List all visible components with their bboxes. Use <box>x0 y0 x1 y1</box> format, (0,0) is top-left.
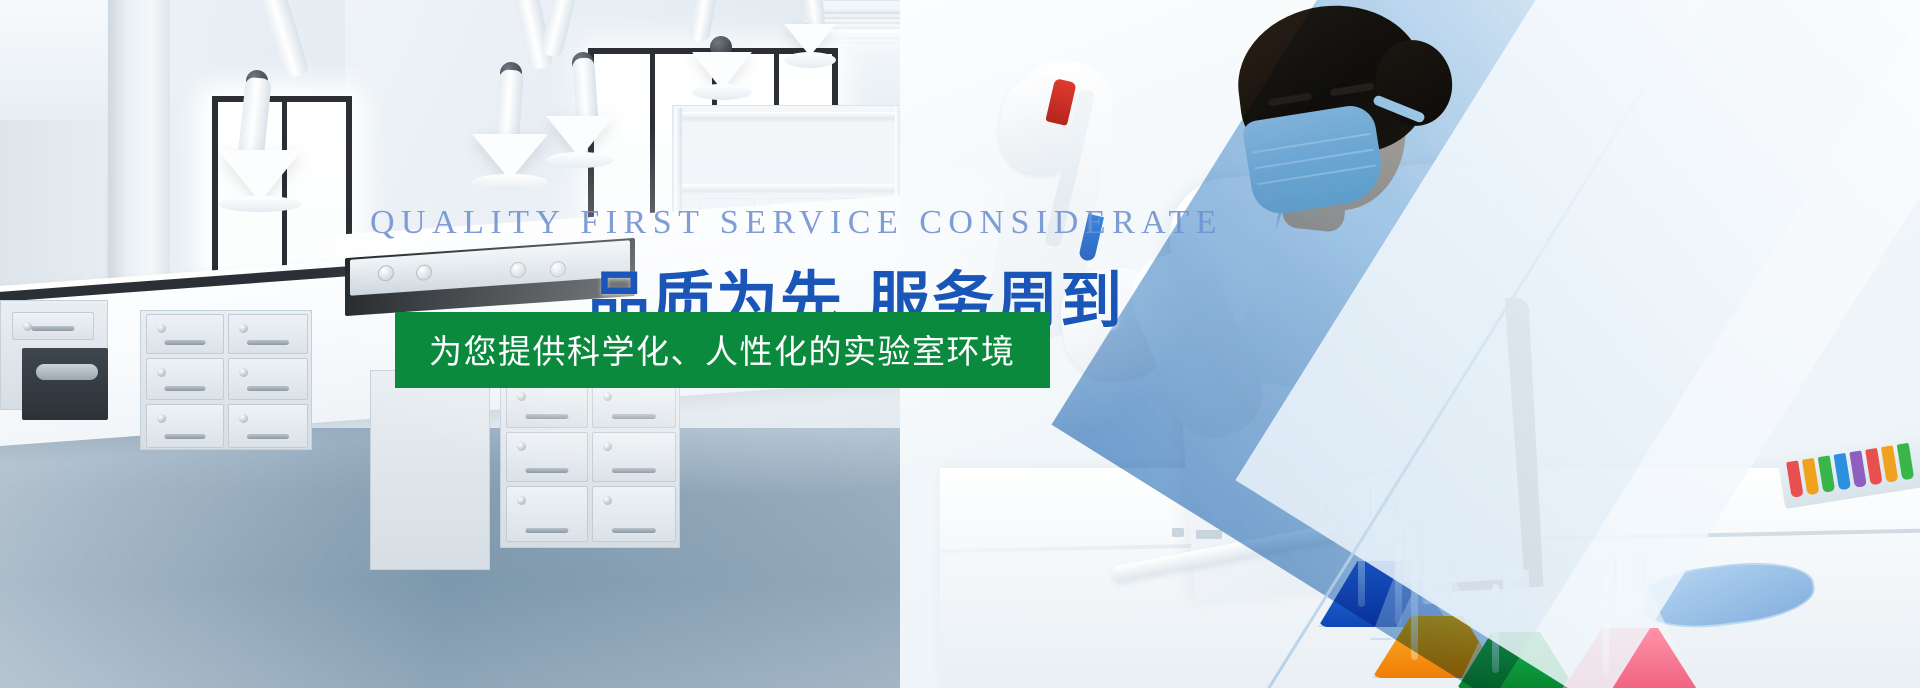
cabinet-drawer <box>228 358 308 400</box>
service-knob <box>378 265 394 282</box>
drawer-handle <box>247 340 289 345</box>
rod-marking <box>1172 528 1184 537</box>
rod-marking <box>1196 530 1222 539</box>
test-tube <box>1818 455 1835 492</box>
cabinet-drawer <box>592 486 676 542</box>
lab-background-photo <box>0 0 1920 688</box>
test-tube <box>1786 460 1803 497</box>
cabinet-drawer <box>146 314 224 354</box>
drawer-handle <box>612 468 656 473</box>
drawer-handle <box>31 326 74 331</box>
test-tube <box>1802 458 1819 495</box>
pendant-lamp-rim <box>218 196 302 212</box>
drawer-lock <box>239 368 248 377</box>
drawer-lock <box>157 324 166 333</box>
drawer-handle <box>164 386 205 391</box>
cabinet-drawer <box>228 404 308 448</box>
cabinet-drawer <box>506 432 588 482</box>
undercounter-handle <box>36 364 98 380</box>
pendant-lamp-rim <box>546 152 614 168</box>
cabinet-drawer <box>506 382 588 428</box>
cabinet-drawer <box>12 312 94 340</box>
cabinet-drawer <box>506 486 588 542</box>
drawer-handle <box>525 414 568 419</box>
drawer-handle <box>247 434 289 439</box>
drawer-lock <box>517 442 526 451</box>
drawer-lock <box>517 496 526 505</box>
fume-arm-segment <box>572 57 599 124</box>
drawer-handle <box>247 386 289 391</box>
test-tube <box>1897 443 1914 480</box>
service-knob <box>416 264 432 281</box>
pendant-lamp <box>218 150 302 202</box>
hero-banner: QUALITY FIRST SERVICE CONSIDERATE 品质为先服务… <box>0 0 1920 688</box>
service-knob <box>550 261 566 278</box>
drawer-handle <box>612 414 656 419</box>
pendant-lamp-rim <box>472 174 548 190</box>
drawer-handle <box>164 340 205 345</box>
pendant-lamp-rim <box>692 84 752 100</box>
test-tube <box>1834 453 1851 490</box>
drawer-lock <box>603 392 612 401</box>
drawer-lock <box>603 496 612 505</box>
drawer-lock <box>239 414 248 423</box>
test-tube <box>1865 448 1882 485</box>
cabinet-drawer <box>592 382 676 428</box>
test-tube <box>1849 450 1866 487</box>
drawer-lock <box>239 324 248 333</box>
window-mullion <box>650 54 655 218</box>
drawer-lock <box>517 392 526 401</box>
pendant-lamp-rim <box>784 52 836 68</box>
undercounter-unit <box>22 348 108 420</box>
drawer-lock <box>157 414 166 423</box>
test-tube <box>1881 445 1898 482</box>
cabinet-drawer <box>592 432 676 482</box>
drawer-handle <box>164 434 205 439</box>
service-knob <box>510 261 526 278</box>
drawer-lock <box>157 368 166 377</box>
drawer-handle <box>525 468 568 473</box>
cabinet-drawer <box>146 358 224 400</box>
cabinet-drawer <box>146 404 224 448</box>
drawer-lock <box>603 442 612 451</box>
cabinet-drawer <box>228 314 308 354</box>
drawer-handle <box>612 528 656 533</box>
drawer-bank <box>370 370 490 570</box>
drawer-handle <box>525 528 568 533</box>
